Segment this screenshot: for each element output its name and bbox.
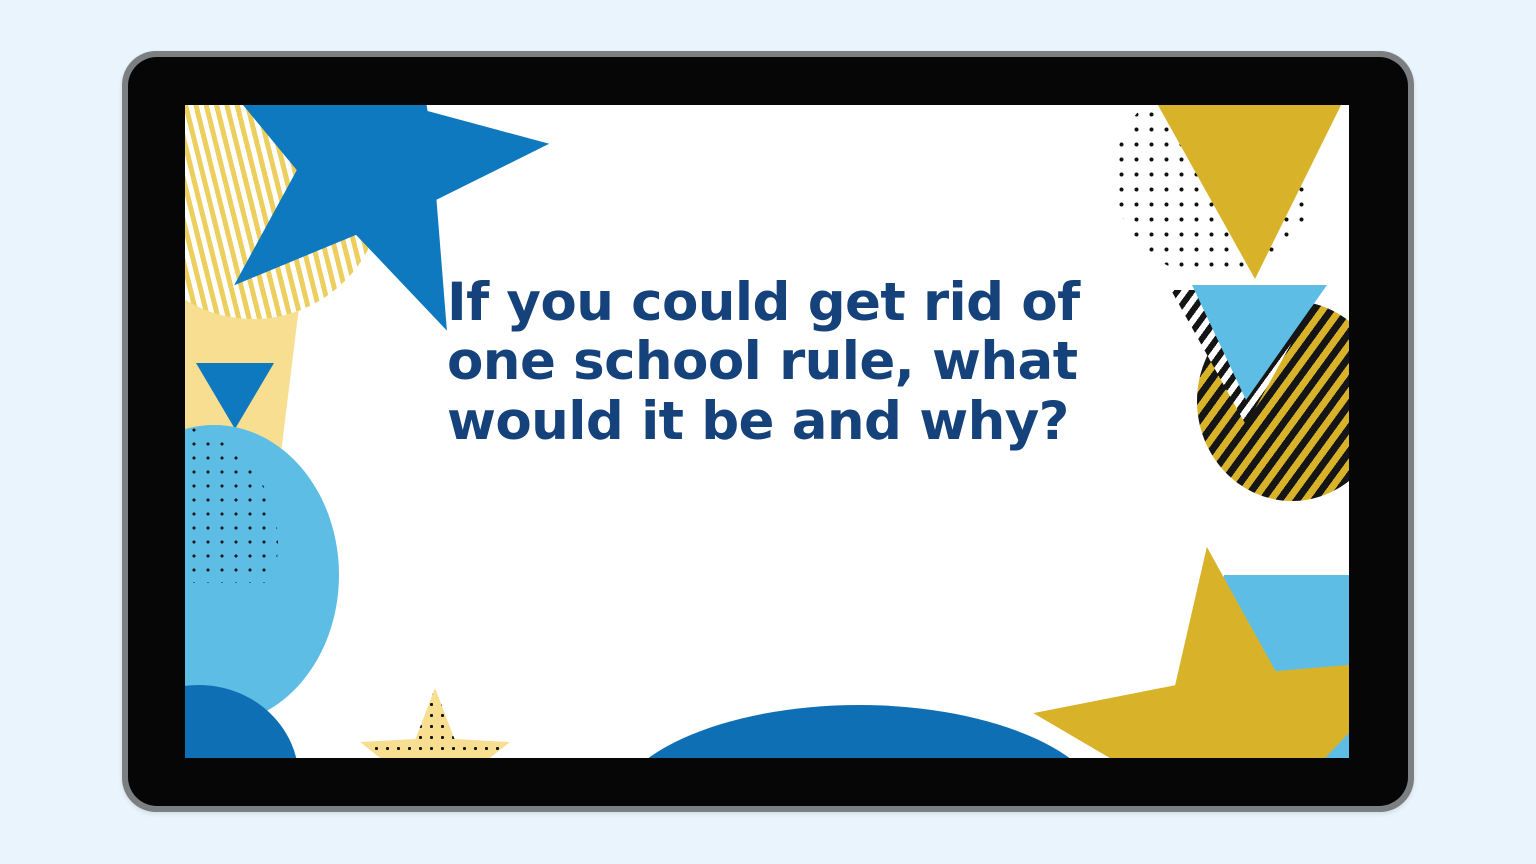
- tablet-device: If you could get rid of one school rule,…: [122, 51, 1414, 812]
- bottom-dotted-star-dots-icon: [360, 688, 510, 758]
- slide-headline: If you could get rid of one school rule,…: [447, 273, 1087, 451]
- tablet-bezel: If you could get rid of one school rule,…: [128, 57, 1408, 806]
- presentation-slide: If you could get rid of one school rule,…: [185, 105, 1349, 758]
